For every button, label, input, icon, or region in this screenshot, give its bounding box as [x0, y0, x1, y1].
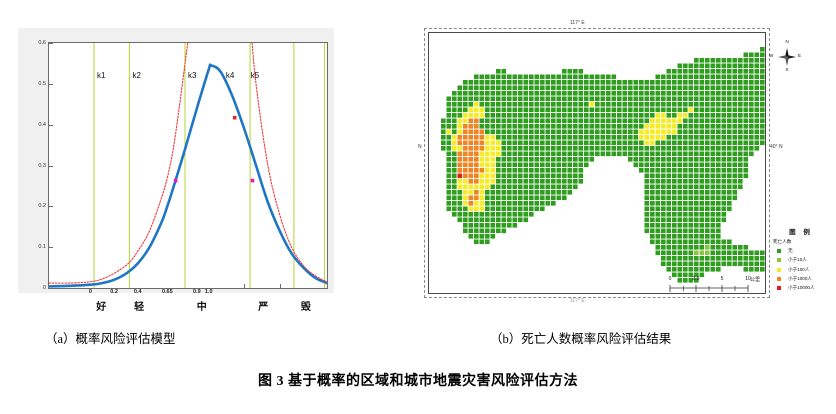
grid-cell [716, 201, 721, 206]
grid-cell [458, 168, 463, 173]
figure-main-caption: 图 3 基于概率的区域和城市地震灾害风险评估方法 [0, 370, 836, 390]
grid-cell [722, 245, 727, 250]
grid-cell [529, 212, 534, 217]
grid-cell [656, 234, 661, 239]
grid-cell [667, 168, 672, 173]
grid-cell [672, 251, 677, 256]
grid-cell [738, 141, 743, 146]
grid-cell [672, 234, 677, 239]
grid-cell [452, 174, 457, 179]
grid-cell [733, 174, 738, 179]
grid-cell [722, 174, 727, 179]
grid-cell [760, 53, 765, 58]
grid-cell [579, 102, 584, 107]
grid-cell [573, 185, 578, 190]
grid-cell [480, 163, 485, 168]
grid-cell [557, 152, 562, 157]
grid-cell [491, 234, 496, 239]
compass-rose: N S E W [770, 40, 804, 74]
grid-cell [661, 190, 666, 195]
grid-cell [656, 240, 661, 245]
grid-cell [744, 108, 749, 113]
grid-cell [661, 168, 666, 173]
grid-cell [711, 163, 716, 168]
grid-cell [738, 75, 743, 80]
grid-cell [540, 168, 545, 173]
grid-cell [705, 141, 710, 146]
grid-cell [722, 190, 727, 195]
grid-cell [546, 141, 551, 146]
y-axis-tick-mark [49, 125, 53, 126]
y-axis-tick-mark [49, 247, 53, 248]
grid-cell [634, 124, 639, 129]
grid-cell [507, 124, 512, 129]
grid-cell [551, 86, 556, 91]
grid-cell [573, 135, 578, 140]
grid-cell [474, 179, 479, 184]
grid-cell [524, 152, 529, 157]
grid-cell [507, 196, 512, 201]
grid-cell [667, 157, 672, 162]
grid-cell [716, 256, 721, 261]
grid-cell [727, 240, 732, 245]
grid-cell [667, 152, 672, 157]
grid-cell [452, 212, 457, 217]
grid-cell [700, 108, 705, 113]
grid-cell [722, 86, 727, 91]
grid-cell [694, 102, 699, 107]
grid-cell [645, 102, 650, 107]
grid-cell [760, 64, 765, 69]
grid-cell [579, 91, 584, 96]
y-axis-tick-label: 0.2 [38, 203, 46, 209]
grid-cell [650, 113, 655, 118]
grid-cell [524, 86, 529, 91]
grid-cell [700, 201, 705, 206]
grid-cell [452, 141, 457, 146]
grid-cell [722, 179, 727, 184]
grid-cell [733, 91, 738, 96]
grid-cell [683, 240, 688, 245]
grid-cell [760, 58, 765, 63]
grid-cell [689, 262, 694, 267]
grid-cell [513, 102, 518, 107]
grid-cell [689, 119, 694, 124]
grid-cell [524, 157, 529, 162]
grid-cell [513, 86, 518, 91]
grid-cell [749, 86, 754, 91]
grid-cell [672, 108, 677, 113]
grid-cell [738, 80, 743, 85]
grid-cell [524, 218, 529, 223]
grid-cell [584, 97, 589, 102]
grid-cell [628, 157, 633, 162]
grid-cell [513, 130, 518, 135]
grid-cell [595, 97, 600, 102]
grid-cell [650, 124, 655, 129]
grid-cell [485, 152, 490, 157]
grid-cell [447, 168, 452, 173]
grid-cell [689, 69, 694, 74]
grid-cell [694, 190, 699, 195]
grid-cell [645, 157, 650, 162]
grid-cell [744, 102, 749, 107]
grid-cell [656, 146, 661, 151]
grid-cell [744, 251, 749, 256]
grid-cell [612, 102, 617, 107]
grid-cell [463, 124, 468, 129]
grid-cell [529, 201, 534, 206]
grid-cell [628, 97, 633, 102]
grid-cell [705, 130, 710, 135]
grid-cell [513, 97, 518, 102]
grid-cell [683, 256, 688, 261]
grid-cell [584, 113, 589, 118]
grid-cell [590, 86, 595, 91]
grid-cell [447, 97, 452, 102]
grid-cell [656, 91, 661, 96]
grid-cell [551, 119, 556, 124]
compass-west-label: W [769, 53, 773, 58]
grid-cell [705, 223, 710, 228]
grid-cell [733, 135, 738, 140]
grid-cell [617, 86, 622, 91]
grid-cell [568, 124, 573, 129]
grid-cell [447, 124, 452, 129]
grid-cell [496, 157, 501, 162]
grid-cell [711, 240, 716, 245]
grid-cell [705, 75, 710, 80]
grid-cell [711, 102, 716, 107]
grid-cell [579, 119, 584, 124]
grid-cell [579, 75, 584, 80]
grid-cell [557, 174, 562, 179]
grid-cell [496, 207, 501, 212]
grid-cell [595, 113, 600, 118]
grid-cell [617, 91, 622, 96]
grid-cell [667, 97, 672, 102]
grid-cell [524, 179, 529, 184]
grid-cell [678, 124, 683, 129]
grid-cell [535, 201, 540, 206]
grid-cell [700, 58, 705, 63]
grid-cell [529, 152, 534, 157]
x-axis-tick-label: 0.9 [193, 289, 201, 295]
grid-cell [700, 229, 705, 234]
grid-cell [672, 86, 677, 91]
grid-cell [755, 97, 760, 102]
grid-cell [667, 234, 672, 239]
grid-cell [612, 119, 617, 124]
grid-cell [546, 91, 551, 96]
grid-cell [694, 130, 699, 135]
legend-subtitle: 死亡人数 [773, 239, 830, 245]
grid-cell [678, 218, 683, 223]
grid-cell [502, 146, 507, 151]
grid-cell [705, 201, 710, 206]
grid-cell [656, 174, 661, 179]
grid-cell [661, 135, 666, 140]
grid-cell [595, 102, 600, 107]
grid-cell [485, 80, 490, 85]
grid-cell [557, 146, 562, 151]
grid-cell [496, 91, 501, 96]
legend-item: 小于1000人 [777, 276, 830, 282]
legend-color-swatch [777, 277, 781, 281]
grid-cell [645, 80, 650, 85]
grid-cell [562, 146, 567, 151]
grid-cell [727, 141, 732, 146]
grid-cell [661, 179, 666, 184]
grid-cell [463, 201, 468, 206]
grid-cell [672, 168, 677, 173]
grid-cell [744, 69, 749, 74]
grid-cell [601, 97, 606, 102]
grid-cell [535, 141, 540, 146]
grid-cell [513, 174, 518, 179]
grid-cell [474, 75, 479, 80]
grid-cell [661, 97, 666, 102]
grid-cell [529, 168, 534, 173]
grid-cell [568, 141, 573, 146]
grid-cell [711, 91, 716, 96]
grid-cell [601, 86, 606, 91]
grid-cell [755, 64, 760, 69]
grid-cell [590, 152, 595, 157]
grid-cell [623, 119, 628, 124]
grid-cell [678, 75, 683, 80]
grid-cell [529, 80, 534, 85]
grid-cell [529, 190, 534, 195]
grid-cell [474, 86, 479, 91]
grid-cell [507, 174, 512, 179]
grid-cell [639, 113, 644, 118]
grid-cell [656, 196, 661, 201]
grid-cell [469, 196, 474, 201]
grid-cell [496, 124, 501, 129]
grid-cell [595, 91, 600, 96]
grid-cell [606, 146, 611, 151]
grid-cell [579, 124, 584, 129]
grid-cell [480, 108, 485, 113]
grid-cell [463, 229, 468, 234]
grid-cell [562, 97, 567, 102]
grid-cell [656, 185, 661, 190]
grid-cell [458, 146, 463, 151]
grid-cell [733, 97, 738, 102]
grid-cell [722, 168, 727, 173]
grid-cell [749, 97, 754, 102]
grid-cell [469, 80, 474, 85]
grid-cell [469, 135, 474, 140]
grid-cell [716, 86, 721, 91]
grid-cell [749, 113, 754, 118]
grid-cell [524, 190, 529, 195]
grid-cell [700, 174, 705, 179]
grid-cell [535, 75, 540, 80]
grid-cell [480, 168, 485, 173]
y-axis-tick-label: 0.1 [38, 244, 46, 250]
grid-cell [656, 108, 661, 113]
grid-cell [711, 97, 716, 102]
grid-cell [760, 251, 765, 256]
grid-cell [595, 108, 600, 113]
grid-cell [672, 91, 677, 96]
grid-cell [678, 152, 683, 157]
grid-cell [502, 91, 507, 96]
grid-cell [634, 97, 639, 102]
grid-cell [518, 218, 523, 223]
grid-cell [491, 152, 496, 157]
grid-cell [689, 245, 694, 250]
grid-cell [529, 113, 534, 118]
grid-cell [738, 135, 743, 140]
grid-cell [700, 251, 705, 256]
grid-cell [672, 119, 677, 124]
grid-cell [474, 196, 479, 201]
grid-cell [749, 64, 754, 69]
grid-cell [568, 163, 573, 168]
grid-cell [491, 196, 496, 201]
grid-cell [678, 163, 683, 168]
grid-cell [628, 113, 633, 118]
grid-cell [689, 267, 694, 272]
grid-cell [700, 168, 705, 173]
grid-cell [694, 75, 699, 80]
grid-cell [502, 119, 507, 124]
grid-cell [689, 130, 694, 135]
grid-cell [694, 207, 699, 212]
grid-cell [705, 97, 710, 102]
grid-cell [540, 91, 545, 96]
grid-cell [711, 86, 716, 91]
grid-cell [738, 245, 743, 250]
grid-cell [711, 124, 716, 129]
grid-cell [623, 86, 628, 91]
grid-cell [678, 130, 683, 135]
grid-cell [689, 179, 694, 184]
grid-cell [694, 135, 699, 140]
grid-cell [612, 130, 617, 135]
coord-label-right: 40° N [770, 144, 783, 150]
grid-cell [667, 196, 672, 201]
grid-cell [535, 179, 540, 184]
grid-cell [474, 185, 479, 190]
grid-cell [491, 190, 496, 195]
legend-title: 图 例 [772, 226, 830, 236]
grid-cell [738, 108, 743, 113]
grid-cell [760, 102, 765, 107]
grid-cell [738, 251, 743, 256]
grid-cell [474, 152, 479, 157]
grid-cell [546, 152, 551, 157]
scalebar-unit: 公里 [750, 276, 760, 283]
grid-cell [672, 174, 677, 179]
grid-cell [700, 179, 705, 184]
grid-cell [656, 97, 661, 102]
damage-category-label: 中 [197, 298, 207, 313]
grid-cell [513, 201, 518, 206]
grid-cell [722, 201, 727, 206]
compass-south-label: S [786, 67, 789, 72]
grid-cell [727, 130, 732, 135]
grid-cell [601, 75, 606, 80]
grid-cell [540, 108, 545, 113]
grid-cell [496, 163, 501, 168]
grid-cell [749, 58, 754, 63]
grid-cell [661, 218, 666, 223]
grid-cell [474, 223, 479, 228]
grid-cell [463, 108, 468, 113]
grid-cell [722, 64, 727, 69]
grid-cell [678, 223, 683, 228]
grid-cell [639, 146, 644, 151]
grid-cell [551, 152, 556, 157]
grid-cell [562, 190, 567, 195]
grid-cell [716, 234, 721, 239]
grid-cell [507, 80, 512, 85]
grid-cell [491, 86, 496, 91]
grid-cell [480, 157, 485, 162]
grid-cell [650, 141, 655, 146]
grid-cell [458, 207, 463, 212]
grid-cell [722, 251, 727, 256]
grid-cell [546, 130, 551, 135]
grid-cell [529, 174, 534, 179]
grid-cell [727, 135, 732, 140]
grid-cell [700, 119, 705, 124]
grid-cell [716, 262, 721, 267]
grid-cell [518, 75, 523, 80]
x-axis-tick-mark [244, 284, 245, 288]
grid-cell [480, 86, 485, 91]
grid-cell [474, 229, 479, 234]
grid-cell [474, 212, 479, 217]
grid-cell [535, 174, 540, 179]
grid-cell [716, 141, 721, 146]
grid-cell [535, 91, 540, 96]
grid-cell [738, 124, 743, 129]
grid-cell [568, 80, 573, 85]
grid-cell [727, 168, 732, 173]
grid-cell [502, 196, 507, 201]
grid-cell [502, 75, 507, 80]
grid-cell [474, 91, 479, 96]
grid-cell [744, 64, 749, 69]
grid-cell [755, 75, 760, 80]
grid-cell [672, 218, 677, 223]
grid-cell [650, 190, 655, 195]
legend-item-label: 无 [788, 248, 793, 254]
grid-cell [568, 108, 573, 113]
grid-cell [507, 212, 512, 217]
grid-cell [546, 102, 551, 107]
grid-cell [469, 130, 474, 135]
grid-cell [628, 119, 633, 124]
grid-cell [705, 119, 710, 124]
grid-cell [656, 201, 661, 206]
grid-cell [678, 80, 683, 85]
grid-cell [568, 130, 573, 135]
grid-cell [727, 185, 732, 190]
grid-cell [458, 91, 463, 96]
grid-cell [474, 174, 479, 179]
grid-cell [689, 190, 694, 195]
grid-cell [463, 80, 468, 85]
grid-cell [661, 146, 666, 151]
grid-cell [452, 91, 457, 96]
grid-cell [661, 152, 666, 157]
